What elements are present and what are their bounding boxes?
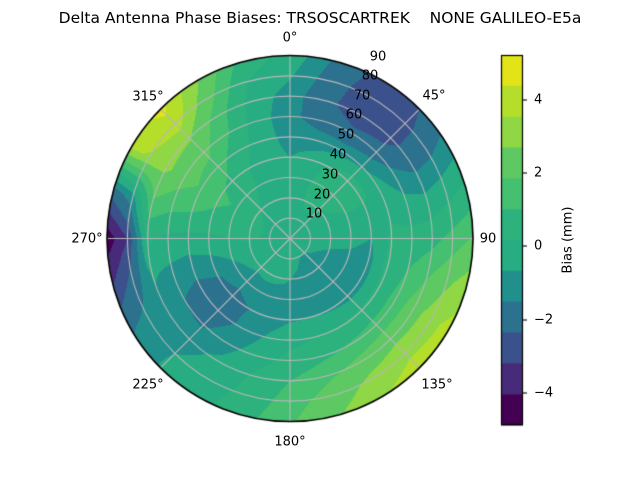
- colorbar-tick-label: −4: [534, 386, 553, 401]
- theta-tick-label: 225°: [132, 378, 163, 393]
- colorbar-tick-label: 2: [534, 166, 542, 181]
- theta-tick-label: 0°: [283, 31, 298, 46]
- colorbar-tick-label: 4: [534, 93, 542, 108]
- radial-tick-label: 10: [306, 207, 323, 222]
- theta-tick-label: 90: [480, 232, 497, 247]
- radial-tick-label: 30: [322, 168, 339, 183]
- theta-tick-label: 270°: [71, 232, 102, 247]
- colorbar-tick-label: 0: [534, 239, 542, 254]
- figure-canvas: Delta Antenna Phase Biases: TRSOSCARTREK…: [0, 0, 640, 480]
- theta-tick-label: 315°: [132, 90, 163, 105]
- colorbar-axis-label: Bias (mm): [561, 207, 576, 274]
- radial-tick-label: 60: [346, 108, 363, 123]
- theta-tick-label: 45°: [422, 89, 445, 104]
- page-title: Delta Antenna Phase Biases: TRSOSCARTREK…: [0, 8, 640, 28]
- theta-tick-label: 180°: [274, 435, 305, 450]
- theta-tick-label: 135°: [421, 378, 452, 393]
- radial-tick-label: 40: [330, 148, 347, 163]
- radial-tick-label: 80: [362, 69, 379, 84]
- radial-tick-label: 90: [370, 50, 387, 65]
- radial-tick-label: 70: [354, 89, 371, 104]
- colorbar-tick-label: −2: [534, 313, 553, 328]
- radial-tick-label: 20: [314, 188, 331, 203]
- radial-tick-label: 50: [338, 128, 355, 143]
